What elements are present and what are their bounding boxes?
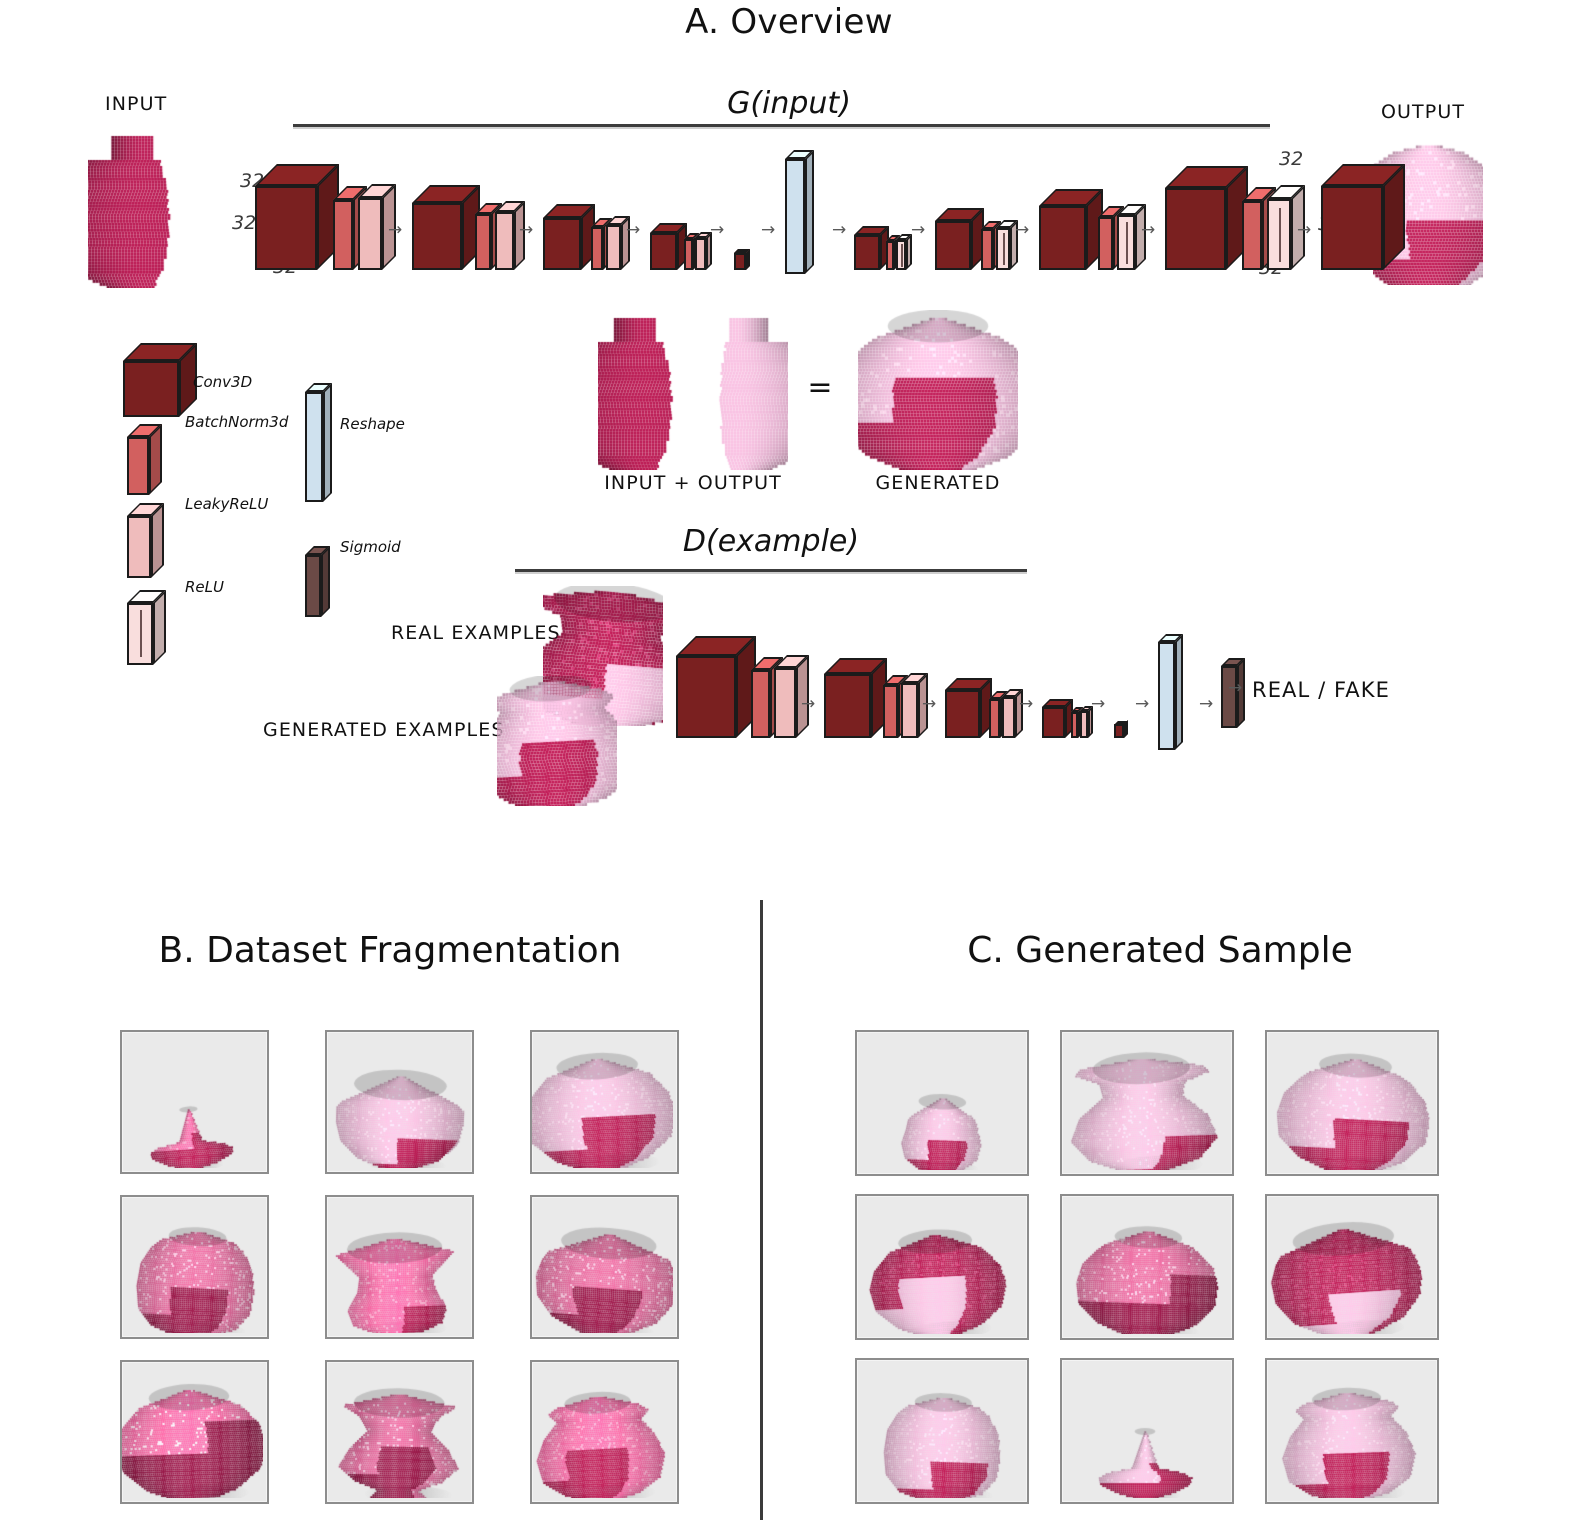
- block-reshape: [785, 159, 805, 274]
- flow-arrow: →: [911, 222, 925, 239]
- block-conv3d: [676, 656, 736, 738]
- vessel-canvas: [122, 1197, 263, 1333]
- thumbnail-gen-globe: [1265, 1030, 1439, 1176]
- thumbnail-gen-dish: [1060, 1358, 1234, 1504]
- vessel-gen-sphere: [1062, 1196, 1228, 1334]
- vessel-gen-dark-jar: [857, 1196, 1023, 1334]
- generator-label: G(input): [0, 86, 1578, 121]
- block-relu: [1267, 199, 1291, 270]
- thumbnail-gen-open-bowl: [1265, 1194, 1439, 1340]
- block-leakyrelu: [606, 225, 621, 270]
- thumbnail-gen-cylinder: [855, 1358, 1029, 1504]
- flow-arrow: →: [1199, 696, 1213, 713]
- block-batchnorm3d: [591, 227, 603, 270]
- flow-arrow: →: [1135, 696, 1149, 713]
- vessel-jar-round: [532, 1032, 673, 1168]
- discriminator-label: D(example): [515, 524, 1027, 559]
- composite-right-caption: GENERATED: [848, 472, 1028, 494]
- discriminator-rule: [515, 569, 1027, 572]
- vessel-gen-amphora: [1062, 1032, 1228, 1170]
- thumbnail-gen-small-jar: [855, 1030, 1029, 1176]
- block-conv3d: [1165, 188, 1226, 270]
- block-conv3d: [945, 690, 980, 738]
- thumbnail-vase-tall: [120, 1195, 269, 1339]
- panel-b-title: B. Dataset Fragmentation: [90, 930, 690, 971]
- vessel-fragment-canvas: [680, 310, 788, 470]
- block-conv3d: [543, 218, 581, 270]
- input-plus-output-vessel: [598, 310, 788, 470]
- block-batchnorm3d: [886, 241, 894, 270]
- flow-arrow: →: [626, 222, 640, 239]
- block-conv3d: [1039, 206, 1086, 270]
- discriminator-final-arrow: →: [1228, 678, 1242, 698]
- thumbnail-jar-patch: [120, 1360, 269, 1504]
- generated-vessel: [858, 310, 1018, 470]
- flow-arrow: →: [1019, 696, 1033, 713]
- vessel-fragment-canvas: [88, 128, 198, 288]
- vessel-canvas: [497, 676, 617, 806]
- flow-arrow: →: [388, 222, 402, 239]
- composite-left-caption: INPUT + OUTPUT: [598, 472, 788, 494]
- vessel-canvas: [327, 1197, 468, 1333]
- flow-arrow: →: [801, 696, 815, 713]
- legend-swatch-reshape: [305, 392, 323, 502]
- vessel-canvas: [858, 310, 1018, 470]
- legend-swatch-conv3d: [123, 361, 179, 417]
- block-conv3d: [412, 203, 462, 270]
- thumbnail-bowl-shallow: [120, 1030, 269, 1174]
- block-batchnorm3d: [475, 214, 491, 270]
- legend-label-batchnorm: BatchNorm3d: [185, 413, 288, 431]
- block-relu: [1117, 215, 1135, 270]
- vessel-gen-open-bowl: [1267, 1196, 1433, 1334]
- vessel-canvas: [1267, 1196, 1433, 1334]
- vessel-canvas: [122, 1362, 263, 1498]
- composite-output-part: [680, 310, 788, 470]
- thumbnail-jar-round: [530, 1030, 679, 1174]
- thumbnail-gen-dark-jar: [855, 1194, 1029, 1340]
- block-leakyrelu: [495, 212, 514, 270]
- legend-label-sigmoid: Sigmoid: [340, 538, 401, 556]
- vessel-canvas: [1062, 1032, 1228, 1170]
- thumbnail-urn: [530, 1360, 679, 1504]
- equals-sign: =: [800, 370, 840, 405]
- vessel-canvas: [857, 1360, 1023, 1498]
- flow-arrow: →: [832, 222, 846, 239]
- block-leakyrelu: [901, 683, 918, 738]
- block-batchnorm3d: [1242, 201, 1262, 270]
- block-relu: [996, 228, 1010, 270]
- vessel-vase-tall: [122, 1197, 263, 1333]
- vessel-jar-wide: [532, 1197, 673, 1333]
- legend-label-leakyrelu: LeakyReLU: [185, 495, 268, 513]
- composite-input-part: [598, 310, 693, 470]
- thumbnail-cup-flared: [325, 1195, 474, 1339]
- vessel-canvas: [1062, 1196, 1228, 1334]
- legend-label-conv3d: Conv3D: [193, 373, 252, 391]
- flow-arrow: →: [1091, 696, 1105, 713]
- block-reshape: [1158, 642, 1175, 750]
- panel-divider: [760, 900, 763, 1520]
- legend: Conv3DBatchNorm3dLeakyReLUReLUReshapeSig…: [105, 335, 535, 610]
- vessel-jar-patch: [122, 1362, 263, 1498]
- vessel-goblet: [327, 1362, 468, 1498]
- real-examples-caption: REAL EXAMPLES: [391, 622, 561, 644]
- generator-network: →→→→→→→→→→: [250, 140, 1370, 290]
- vessel-canvas: [532, 1032, 673, 1168]
- block-batchnorm3d: [1071, 712, 1078, 738]
- block-batchnorm3d: [333, 200, 353, 270]
- flow-arrow: →: [1141, 222, 1155, 239]
- vessel-canvas: [327, 1362, 468, 1498]
- vessel-urn: [532, 1362, 673, 1498]
- legend-label-relu: ReLU: [185, 578, 224, 596]
- vessel-gen-cylinder: [857, 1360, 1023, 1498]
- vessel-bowl-deep: [327, 1032, 468, 1168]
- panel-a-title: A. Overview: [0, 2, 1578, 42]
- vessel-gen-jar-hole: [1267, 1360, 1433, 1498]
- thumbnail-gen-jar-hole: [1265, 1358, 1439, 1504]
- discriminator-network: →→→→→→: [672, 630, 1232, 755]
- panel-c-title: C. Generated Sample: [860, 930, 1460, 971]
- flow-arrow: →: [519, 222, 533, 239]
- block-conv3d: [1114, 724, 1124, 738]
- thumbnail-gen-amphora: [1060, 1030, 1234, 1176]
- vessel-gen-dish: [1062, 1360, 1228, 1498]
- block-conv3d: [734, 253, 746, 270]
- flow-arrow: →: [1297, 222, 1311, 239]
- block-conv3d: [935, 221, 971, 270]
- legend-swatch-sigmoid: [305, 555, 321, 617]
- vessel-cup-flared: [327, 1197, 468, 1333]
- vessel-canvas: [122, 1032, 263, 1168]
- flow-arrow: →: [922, 696, 936, 713]
- block-leakyrelu: [774, 668, 796, 738]
- block-batchnorm3d: [1098, 217, 1113, 270]
- vessel-canvas: [1267, 1360, 1433, 1498]
- generator-rule: [293, 124, 1270, 127]
- block-relu: [896, 240, 906, 270]
- vessel-canvas: [532, 1197, 673, 1333]
- flow-arrow: →: [761, 222, 775, 239]
- block-leakyrelu: [1080, 711, 1088, 738]
- block-batchnorm3d: [981, 229, 993, 270]
- vessel-gen-globe: [1267, 1032, 1433, 1170]
- thumbnail-jar-wide: [530, 1195, 679, 1339]
- generated-example-vessel: [497, 676, 617, 806]
- thumbnail-goblet: [325, 1360, 474, 1504]
- flow-arrow: →: [1015, 222, 1029, 239]
- vessel-canvas: [327, 1032, 468, 1168]
- legend-swatch-batchnorm: [127, 437, 149, 495]
- block-batchnorm3d: [883, 685, 898, 738]
- vessel-canvas: [857, 1196, 1023, 1334]
- block-batchnorm3d: [684, 239, 693, 270]
- dataset-fragmentation-grid: [120, 1030, 690, 1520]
- block-conv3d: [650, 233, 677, 270]
- vessel-fragment-canvas: [598, 310, 693, 470]
- block-leakyrelu: [358, 198, 382, 270]
- block-conv3d: [1321, 186, 1383, 270]
- vessel-canvas: [532, 1362, 673, 1498]
- discriminator-decision: REAL / FAKE: [1252, 678, 1390, 702]
- block-leakyrelu: [695, 238, 706, 270]
- block-conv3d: [824, 674, 871, 738]
- generated-examples-caption: GENERATED EXAMPLES: [263, 719, 505, 741]
- block-conv3d: [255, 186, 317, 270]
- block-batchnorm3d: [751, 670, 770, 738]
- generated-sample-grid: [855, 1030, 1435, 1520]
- thumbnail-gen-sphere: [1060, 1194, 1234, 1340]
- block-leakyrelu: [1002, 697, 1015, 738]
- input-vessel-render: [88, 128, 198, 288]
- block-conv3d: [854, 235, 880, 270]
- vessel-canvas: [1267, 1032, 1433, 1170]
- block-conv3d: [1042, 707, 1065, 738]
- legend-swatch-relu: [127, 603, 153, 665]
- legend-swatch-leakyrelu: [127, 516, 151, 578]
- flow-arrow: →: [710, 222, 724, 239]
- block-batchnorm3d: [989, 699, 1000, 738]
- vessel-canvas: [857, 1032, 1023, 1170]
- vessel-canvas: [1062, 1360, 1228, 1498]
- vessel-bowl-shallow: [122, 1032, 263, 1168]
- legend-label-reshape: Reshape: [340, 415, 405, 433]
- thumbnail-bowl-deep: [325, 1030, 474, 1174]
- vessel-gen-small-jar: [857, 1032, 1023, 1170]
